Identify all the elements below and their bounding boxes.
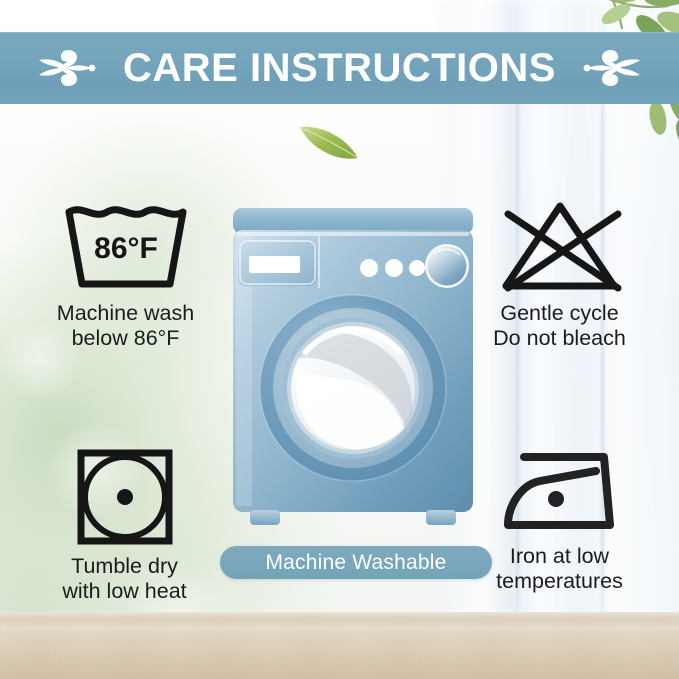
table-edge-shadow <box>0 617 679 621</box>
machine-washable-badge: Machine Washable <box>220 546 492 579</box>
fleur-de-lis-ornament-right-icon <box>582 44 644 92</box>
instruction-machine-wash: 86°F Machine wash below 86°F <box>18 196 233 351</box>
washer-feet <box>250 510 456 525</box>
care-instructions-infographic: CARE INSTRUCTIONS 86°F <box>0 0 679 679</box>
washer-door[interactable] <box>260 295 446 481</box>
table-wood-grain <box>0 622 679 679</box>
instruction-caption: Iron at low temperatures <box>496 544 623 594</box>
instruction-tumble-dry: Tumble dry with low heat <box>22 447 227 604</box>
instruction-do-not-bleach: Gentle cycle Do not bleach <box>452 196 667 351</box>
page-title: CARE INSTRUCTIONS <box>123 48 556 88</box>
header-banner: CARE INSTRUCTIONS <box>0 32 679 104</box>
wash-tub-icon: 86°F <box>60 196 192 294</box>
detergent-drawer <box>238 239 317 286</box>
floating-leaf-icon <box>296 118 366 166</box>
instruction-caption: Tumble dry with low heat <box>62 554 186 604</box>
instruction-caption: Gentle cycle Do not bleach <box>493 301 626 351</box>
washer-control-buttons[interactable] <box>360 259 425 277</box>
tumble-dry-low-icon <box>74 447 176 547</box>
iron-low-heat-icon <box>500 447 620 537</box>
crossed-triangle-bleach-icon <box>492 196 628 294</box>
fleur-de-lis-ornament-left-icon <box>35 44 97 92</box>
badge-label: Machine Washable <box>265 552 446 573</box>
instruction-caption: Machine wash below 86°F <box>57 301 194 351</box>
washer-program-knob[interactable] <box>425 244 469 288</box>
washing-machine-illustration <box>228 206 478 536</box>
wash-temperature-label: 86°F <box>94 232 158 265</box>
